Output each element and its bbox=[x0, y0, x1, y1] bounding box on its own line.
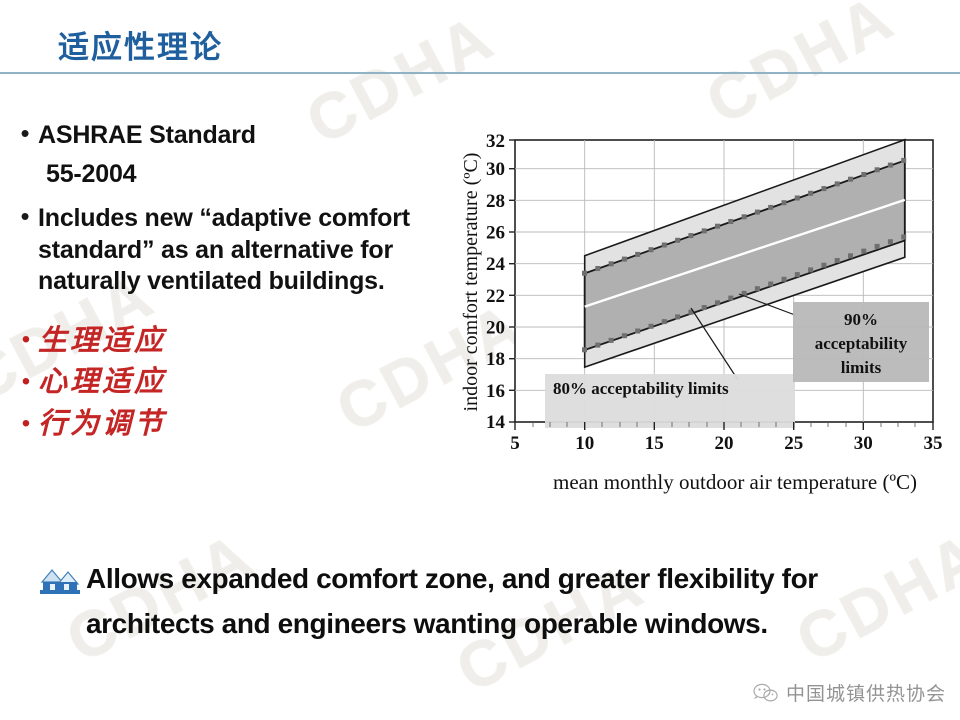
x-tick-label: 35 bbox=[924, 433, 943, 454]
annotation-90-line2: acceptability bbox=[815, 334, 908, 353]
wechat-icon bbox=[753, 682, 779, 704]
summary-block: Allows expanded comfort zone, and greate… bbox=[38, 556, 828, 647]
bullet-item-includes: • Includes new “adaptive comfort standar… bbox=[12, 203, 470, 298]
red-bullet-list: • 生理适应 • 心理适应 • 行为调节 bbox=[14, 322, 470, 443]
y-tick-label: 24 bbox=[486, 254, 506, 275]
footer-logo: 中国城镇供热协会 bbox=[753, 679, 946, 706]
bullet-marker: • bbox=[14, 412, 38, 436]
content-body: • ASHRAE Standard 55-2004 • Includes new… bbox=[0, 120, 470, 447]
adaptive-comfort-chart: 80% acceptability limits 90% acceptabili… bbox=[443, 122, 953, 502]
red-item-label: 生理适应 bbox=[38, 322, 166, 360]
bullet-marker: • bbox=[14, 328, 38, 352]
red-list-item: • 行为调节 bbox=[14, 405, 470, 443]
bullet-marker: • bbox=[12, 120, 38, 147]
x-tick-label: 25 bbox=[784, 433, 803, 454]
y-tick-label: 28 bbox=[486, 191, 505, 212]
annotation-80-label: 80% acceptability limits bbox=[553, 379, 729, 398]
red-item-label: 心理适应 bbox=[38, 363, 166, 401]
annotation-90-line1: 90% bbox=[844, 310, 878, 329]
y-tick-label: 26 bbox=[486, 223, 505, 244]
y-tick-label: 16 bbox=[486, 381, 505, 402]
bullet-item-ashrae: • ASHRAE Standard bbox=[12, 120, 470, 152]
red-list-item: • 生理适应 bbox=[14, 322, 470, 360]
x-tick-label: 15 bbox=[645, 433, 664, 454]
bullet-marker: • bbox=[14, 370, 38, 394]
chart-canvas: 80% acceptability limits 90% acceptabili… bbox=[443, 122, 953, 502]
x-tick-label: 10 bbox=[575, 433, 594, 454]
page-title: 适应性理论 bbox=[58, 22, 223, 67]
y-tick-label: 18 bbox=[486, 349, 505, 370]
annotation-90-line3: limits bbox=[841, 358, 882, 377]
header-divider bbox=[0, 72, 960, 74]
y-tick-label: 30 bbox=[486, 159, 505, 180]
y-axis: 14 16 18 20 22 24 26 28 30 32 bbox=[486, 131, 515, 433]
x-tick-label: 20 bbox=[715, 433, 734, 454]
summary-text: Allows expanded comfort zone, and greate… bbox=[82, 556, 828, 647]
x-tick-label: 30 bbox=[854, 433, 873, 454]
y-tick-label: 32 bbox=[486, 131, 505, 152]
x-tick-label: 5 bbox=[510, 433, 520, 454]
house-building-icon bbox=[38, 562, 82, 596]
bullet-text: ASHRAE Standard bbox=[38, 120, 470, 152]
bullet-text-continuation: 55-2004 bbox=[46, 159, 470, 191]
x-axis-title: mean monthly outdoor air temperature (ºC… bbox=[553, 470, 917, 494]
y-tick-label: 22 bbox=[486, 286, 505, 307]
red-item-label: 行为调节 bbox=[38, 405, 166, 443]
bullet-text: Includes new “adaptive comfort standard”… bbox=[38, 203, 470, 298]
y-tick-label: 20 bbox=[486, 318, 505, 339]
footer-logo-text: 中国城镇供热协会 bbox=[786, 679, 946, 706]
red-list-item: • 心理适应 bbox=[14, 363, 470, 401]
y-tick-label: 14 bbox=[486, 412, 506, 433]
bullet-marker: • bbox=[12, 203, 38, 230]
slide-header: 适应性理论 bbox=[0, 0, 960, 76]
